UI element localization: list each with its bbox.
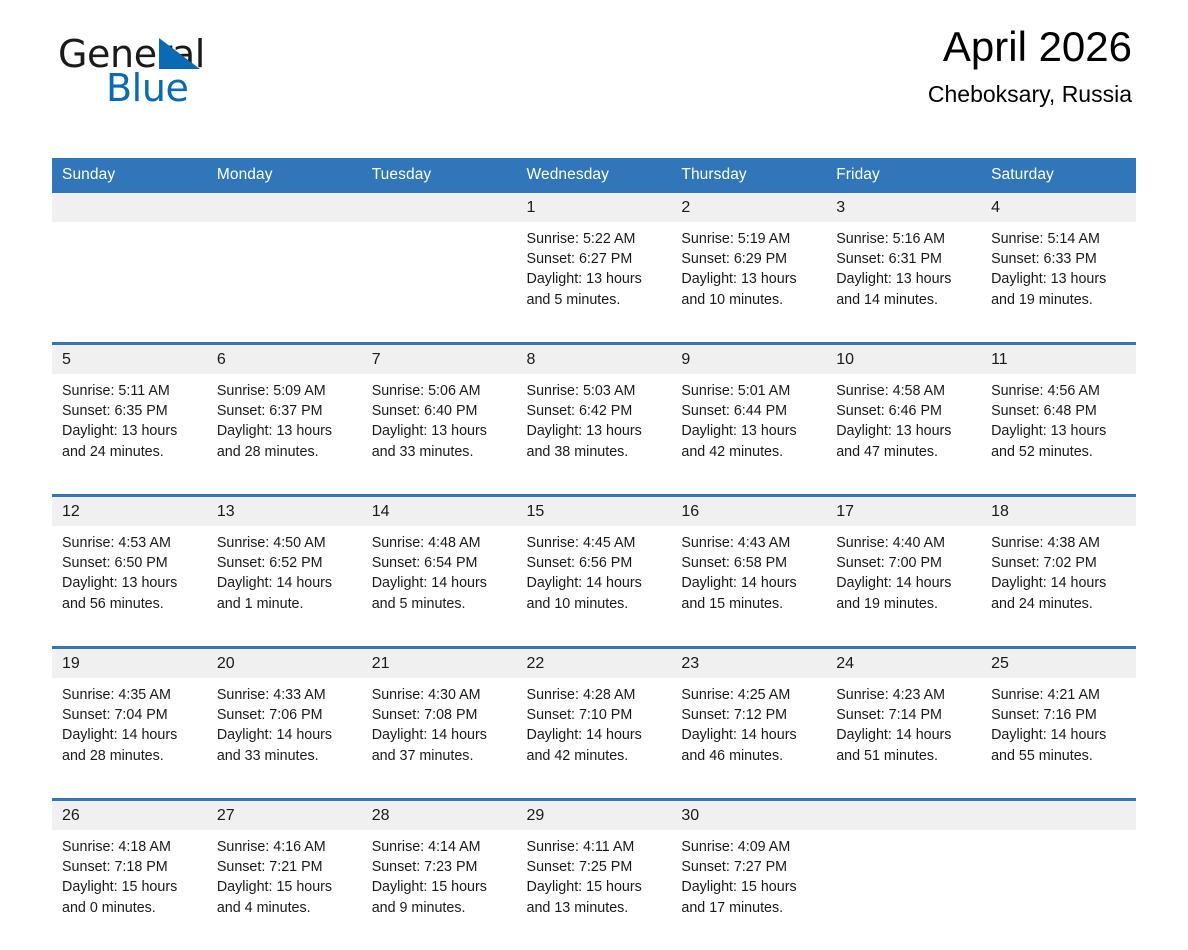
sunrise-text: Sunrise: 4:56 AM bbox=[991, 381, 1128, 401]
day-details: Sunrise: 4:33 AMSunset: 7:06 PMDaylight:… bbox=[217, 685, 354, 766]
daylight-text-line2: and 55 minutes. bbox=[991, 746, 1128, 766]
day-details: Sunrise: 5:09 AMSunset: 6:37 PMDaylight:… bbox=[217, 381, 354, 462]
day-details: Sunrise: 5:06 AMSunset: 6:40 PMDaylight:… bbox=[372, 381, 509, 462]
sunrise-text: Sunrise: 5:06 AM bbox=[372, 381, 509, 401]
day-number[interactable]: 3 bbox=[826, 193, 981, 222]
day-number[interactable]: 22 bbox=[517, 648, 672, 679]
day-number[interactable]: 6 bbox=[207, 344, 362, 375]
day-number[interactable]: 30 bbox=[671, 800, 826, 831]
masthead: General Blue April 2026 Cheboksary, Russ… bbox=[52, 0, 1136, 110]
sunset-text: Sunset: 6:40 PM bbox=[372, 401, 509, 421]
general-blue-logo[interactable]: General Blue bbox=[58, 34, 258, 112]
week-detail-row: Sunrise: 4:18 AMSunset: 7:18 PMDaylight:… bbox=[52, 830, 1136, 950]
daylight-text-line1: Daylight: 13 hours bbox=[836, 269, 973, 289]
daylight-text-line1: Daylight: 15 hours bbox=[527, 877, 664, 897]
day-details: Sunrise: 5:16 AMSunset: 6:31 PMDaylight:… bbox=[836, 229, 973, 310]
daylight-text-line2: and 0 minutes. bbox=[62, 898, 199, 918]
day-cell[interactable]: Sunrise: 5:11 AMSunset: 6:35 PMDaylight:… bbox=[52, 374, 207, 496]
week-daynumber-row: 567891011 bbox=[52, 344, 1136, 375]
day-details: Sunrise: 5:03 AMSunset: 6:42 PMDaylight:… bbox=[527, 381, 664, 462]
sunset-text: Sunset: 6:56 PM bbox=[527, 553, 664, 573]
calendar-grid: Sunday Monday Tuesday Wednesday Thursday… bbox=[52, 158, 1136, 950]
daylight-text-line1: Daylight: 13 hours bbox=[372, 421, 509, 441]
day-cell[interactable]: Sunrise: 5:14 AMSunset: 6:33 PMDaylight:… bbox=[981, 222, 1136, 344]
day-number[interactable]: 28 bbox=[362, 800, 517, 831]
daylight-text-line2: and 17 minutes. bbox=[681, 898, 818, 918]
logo-text-blue: Blue bbox=[106, 68, 189, 108]
day-cell-empty bbox=[362, 222, 517, 344]
sunset-text: Sunset: 6:50 PM bbox=[62, 553, 199, 573]
daylight-text-line2: and 28 minutes. bbox=[62, 746, 199, 766]
day-number[interactable]: 29 bbox=[517, 800, 672, 831]
daylight-text-line1: Daylight: 14 hours bbox=[836, 725, 973, 745]
day-cell[interactable]: Sunrise: 4:30 AMSunset: 7:08 PMDaylight:… bbox=[362, 678, 517, 800]
daylight-text-line1: Daylight: 14 hours bbox=[372, 725, 509, 745]
day-cell[interactable]: Sunrise: 5:16 AMSunset: 6:31 PMDaylight:… bbox=[826, 222, 981, 344]
sunset-text: Sunset: 7:14 PM bbox=[836, 705, 973, 725]
daylight-text-line2: and 10 minutes. bbox=[681, 290, 818, 310]
daylight-text-line1: Daylight: 15 hours bbox=[372, 877, 509, 897]
daylight-text-line1: Daylight: 14 hours bbox=[991, 725, 1128, 745]
sunset-text: Sunset: 6:48 PM bbox=[991, 401, 1128, 421]
day-details: Sunrise: 5:22 AMSunset: 6:27 PMDaylight:… bbox=[527, 229, 664, 310]
week-detail-row: Sunrise: 5:22 AMSunset: 6:27 PMDaylight:… bbox=[52, 222, 1136, 344]
sunrise-text: Sunrise: 4:40 AM bbox=[836, 533, 973, 553]
week-detail-row: Sunrise: 5:11 AMSunset: 6:35 PMDaylight:… bbox=[52, 374, 1136, 496]
sunset-text: Sunset: 6:44 PM bbox=[681, 401, 818, 421]
day-number[interactable]: 27 bbox=[207, 800, 362, 831]
sunset-text: Sunset: 7:18 PM bbox=[62, 857, 199, 877]
day-cell[interactable]: Sunrise: 4:40 AMSunset: 7:00 PMDaylight:… bbox=[826, 526, 981, 648]
day-details: Sunrise: 4:23 AMSunset: 7:14 PMDaylight:… bbox=[836, 685, 973, 766]
day-number[interactable]: 11 bbox=[981, 344, 1136, 375]
weekday-header-saturday: Saturday bbox=[981, 158, 1136, 193]
sunrise-text: Sunrise: 4:33 AM bbox=[217, 685, 354, 705]
sunrise-text: Sunrise: 4:53 AM bbox=[62, 533, 199, 553]
day-details: Sunrise: 5:01 AMSunset: 6:44 PMDaylight:… bbox=[681, 381, 818, 462]
day-details: Sunrise: 5:19 AMSunset: 6:29 PMDaylight:… bbox=[681, 229, 818, 310]
daylight-text-line2: and 19 minutes. bbox=[991, 290, 1128, 310]
daylight-text-line2: and 46 minutes. bbox=[681, 746, 818, 766]
daylight-text-line2: and 33 minutes. bbox=[372, 442, 509, 462]
day-number[interactable]: 21 bbox=[362, 648, 517, 679]
sunset-text: Sunset: 6:31 PM bbox=[836, 249, 973, 269]
day-cell[interactable]: Sunrise: 4:14 AMSunset: 7:23 PMDaylight:… bbox=[362, 830, 517, 950]
daylight-text-line2: and 38 minutes. bbox=[527, 442, 664, 462]
sunrise-text: Sunrise: 4:18 AM bbox=[62, 837, 199, 857]
day-details: Sunrise: 5:11 AMSunset: 6:35 PMDaylight:… bbox=[62, 381, 199, 462]
day-cell-empty bbox=[981, 830, 1136, 950]
weekday-header-friday: Friday bbox=[826, 158, 981, 193]
day-cell[interactable]: Sunrise: 4:25 AMSunset: 7:12 PMDaylight:… bbox=[671, 678, 826, 800]
day-details: Sunrise: 4:50 AMSunset: 6:52 PMDaylight:… bbox=[217, 533, 354, 614]
day-details: Sunrise: 4:35 AMSunset: 7:04 PMDaylight:… bbox=[62, 685, 199, 766]
day-details: Sunrise: 4:09 AMSunset: 7:27 PMDaylight:… bbox=[681, 837, 818, 918]
sunset-text: Sunset: 7:00 PM bbox=[836, 553, 973, 573]
sunset-text: Sunset: 7:06 PM bbox=[217, 705, 354, 725]
sunset-text: Sunset: 7:16 PM bbox=[991, 705, 1128, 725]
daylight-text-line2: and 24 minutes. bbox=[62, 442, 199, 462]
day-number[interactable]: 24 bbox=[826, 648, 981, 679]
day-cell[interactable]: Sunrise: 4:38 AMSunset: 7:02 PMDaylight:… bbox=[981, 526, 1136, 648]
day-number[interactable]: 26 bbox=[52, 800, 207, 831]
sunset-text: Sunset: 6:29 PM bbox=[681, 249, 818, 269]
daylight-text-line1: Daylight: 13 hours bbox=[527, 421, 664, 441]
sunset-text: Sunset: 6:58 PM bbox=[681, 553, 818, 573]
day-number[interactable]: 16 bbox=[671, 496, 826, 527]
day-details: Sunrise: 4:30 AMSunset: 7:08 PMDaylight:… bbox=[372, 685, 509, 766]
sunset-text: Sunset: 7:10 PM bbox=[527, 705, 664, 725]
day-details: Sunrise: 4:18 AMSunset: 7:18 PMDaylight:… bbox=[62, 837, 199, 918]
sunrise-text: Sunrise: 4:25 AM bbox=[681, 685, 818, 705]
location-subtitle: Cheboksary, Russia bbox=[928, 80, 1132, 108]
day-details: Sunrise: 5:14 AMSunset: 6:33 PMDaylight:… bbox=[991, 229, 1128, 310]
day-details: Sunrise: 4:53 AMSunset: 6:50 PMDaylight:… bbox=[62, 533, 199, 614]
day-number[interactable]: 25 bbox=[981, 648, 1136, 679]
daylight-text-line1: Daylight: 13 hours bbox=[681, 269, 818, 289]
calendar-body: 1234Sunrise: 5:22 AMSunset: 6:27 PMDayli… bbox=[52, 193, 1136, 950]
weekday-header-sunday: Sunday bbox=[52, 158, 207, 193]
day-number-empty bbox=[52, 193, 207, 222]
day-number[interactable]: 7 bbox=[362, 344, 517, 375]
sunrise-text: Sunrise: 5:01 AM bbox=[681, 381, 818, 401]
sunset-text: Sunset: 7:02 PM bbox=[991, 553, 1128, 573]
sunset-text: Sunset: 6:46 PM bbox=[836, 401, 973, 421]
day-number[interactable]: 1 bbox=[517, 193, 672, 222]
weekday-header-monday: Monday bbox=[207, 158, 362, 193]
sunset-text: Sunset: 7:23 PM bbox=[372, 857, 509, 877]
sunrise-text: Sunrise: 5:03 AM bbox=[527, 381, 664, 401]
day-cell[interactable]: Sunrise: 5:03 AMSunset: 6:42 PMDaylight:… bbox=[517, 374, 672, 496]
daylight-text-line1: Daylight: 14 hours bbox=[991, 573, 1128, 593]
daylight-text-line1: Daylight: 15 hours bbox=[62, 877, 199, 897]
sunrise-text: Sunrise: 4:16 AM bbox=[217, 837, 354, 857]
daylight-text-line1: Daylight: 13 hours bbox=[527, 269, 664, 289]
sunset-text: Sunset: 7:27 PM bbox=[681, 857, 818, 877]
daylight-text-line2: and 9 minutes. bbox=[372, 898, 509, 918]
daylight-text-line1: Daylight: 13 hours bbox=[991, 421, 1128, 441]
sunrise-text: Sunrise: 5:16 AM bbox=[836, 229, 973, 249]
sunrise-text: Sunrise: 4:35 AM bbox=[62, 685, 199, 705]
day-cell[interactable]: Sunrise: 4:28 AMSunset: 7:10 PMDaylight:… bbox=[517, 678, 672, 800]
sunrise-text: Sunrise: 4:58 AM bbox=[836, 381, 973, 401]
daylight-text-line2: and 4 minutes. bbox=[217, 898, 354, 918]
day-cell[interactable]: Sunrise: 4:35 AMSunset: 7:04 PMDaylight:… bbox=[52, 678, 207, 800]
day-cell[interactable]: Sunrise: 5:09 AMSunset: 6:37 PMDaylight:… bbox=[207, 374, 362, 496]
day-details: Sunrise: 4:38 AMSunset: 7:02 PMDaylight:… bbox=[991, 533, 1128, 614]
sunset-text: Sunset: 6:52 PM bbox=[217, 553, 354, 573]
day-cell[interactable]: Sunrise: 5:06 AMSunset: 6:40 PMDaylight:… bbox=[362, 374, 517, 496]
calendar-page: General Blue April 2026 Cheboksary, Russ… bbox=[0, 0, 1188, 918]
day-number-empty bbox=[981, 800, 1136, 831]
day-details: Sunrise: 4:11 AMSunset: 7:25 PMDaylight:… bbox=[527, 837, 664, 918]
sunrise-text: Sunrise: 4:11 AM bbox=[527, 837, 664, 857]
day-details: Sunrise: 4:45 AMSunset: 6:56 PMDaylight:… bbox=[527, 533, 664, 614]
daylight-text-line2: and 5 minutes. bbox=[527, 290, 664, 310]
day-number[interactable]: 5 bbox=[52, 344, 207, 375]
daylight-text-line2: and 14 minutes. bbox=[836, 290, 973, 310]
daylight-text-line2: and 51 minutes. bbox=[836, 746, 973, 766]
day-number[interactable]: 18 bbox=[981, 496, 1136, 527]
day-cell-empty bbox=[52, 222, 207, 344]
sunrise-text: Sunrise: 5:14 AM bbox=[991, 229, 1128, 249]
sunset-text: Sunset: 6:35 PM bbox=[62, 401, 199, 421]
sunrise-text: Sunrise: 4:30 AM bbox=[372, 685, 509, 705]
day-number[interactable]: 13 bbox=[207, 496, 362, 527]
day-cell[interactable]: Sunrise: 4:45 AMSunset: 6:56 PMDaylight:… bbox=[517, 526, 672, 648]
day-number-empty bbox=[362, 193, 517, 222]
daylight-text-line1: Daylight: 14 hours bbox=[62, 725, 199, 745]
sunset-text: Sunset: 6:42 PM bbox=[527, 401, 664, 421]
daylight-text-line2: and 13 minutes. bbox=[527, 898, 664, 918]
day-details: Sunrise: 4:48 AMSunset: 6:54 PMDaylight:… bbox=[372, 533, 509, 614]
sunrise-text: Sunrise: 4:21 AM bbox=[991, 685, 1128, 705]
sunrise-text: Sunrise: 4:48 AM bbox=[372, 533, 509, 553]
daylight-text-line1: Daylight: 14 hours bbox=[681, 725, 818, 745]
calendar-table: Sunday Monday Tuesday Wednesday Thursday… bbox=[52, 158, 1136, 950]
daylight-text-line2: and 56 minutes. bbox=[62, 594, 199, 614]
day-cell[interactable]: Sunrise: 4:18 AMSunset: 7:18 PMDaylight:… bbox=[52, 830, 207, 950]
day-details: Sunrise: 4:43 AMSunset: 6:58 PMDaylight:… bbox=[681, 533, 818, 614]
day-cell[interactable]: Sunrise: 4:53 AMSunset: 6:50 PMDaylight:… bbox=[52, 526, 207, 648]
day-details: Sunrise: 4:21 AMSunset: 7:16 PMDaylight:… bbox=[991, 685, 1128, 766]
week-detail-row: Sunrise: 4:35 AMSunset: 7:04 PMDaylight:… bbox=[52, 678, 1136, 800]
day-cell-empty bbox=[826, 830, 981, 950]
sunset-text: Sunset: 7:12 PM bbox=[681, 705, 818, 725]
day-details: Sunrise: 4:40 AMSunset: 7:00 PMDaylight:… bbox=[836, 533, 973, 614]
sunset-text: Sunset: 7:21 PM bbox=[217, 857, 354, 877]
sunrise-text: Sunrise: 4:43 AM bbox=[681, 533, 818, 553]
day-number-empty bbox=[207, 193, 362, 222]
day-cell[interactable]: Sunrise: 4:48 AMSunset: 6:54 PMDaylight:… bbox=[362, 526, 517, 648]
day-cell[interactable]: Sunrise: 4:58 AMSunset: 6:46 PMDaylight:… bbox=[826, 374, 981, 496]
title-block: April 2026 Cheboksary, Russia bbox=[928, 22, 1132, 108]
day-details: Sunrise: 4:58 AMSunset: 6:46 PMDaylight:… bbox=[836, 381, 973, 462]
day-cell[interactable]: Sunrise: 4:33 AMSunset: 7:06 PMDaylight:… bbox=[207, 678, 362, 800]
day-cell[interactable]: Sunrise: 4:56 AMSunset: 6:48 PMDaylight:… bbox=[981, 374, 1136, 496]
day-cell[interactable]: Sunrise: 4:43 AMSunset: 6:58 PMDaylight:… bbox=[671, 526, 826, 648]
daylight-text-line2: and 28 minutes. bbox=[217, 442, 354, 462]
daylight-text-line1: Daylight: 13 hours bbox=[62, 421, 199, 441]
daylight-text-line2: and 24 minutes. bbox=[991, 594, 1128, 614]
daylight-text-line2: and 33 minutes. bbox=[217, 746, 354, 766]
daylight-text-line1: Daylight: 13 hours bbox=[62, 573, 199, 593]
daylight-text-line2: and 52 minutes. bbox=[991, 442, 1128, 462]
day-cell[interactable]: Sunrise: 5:01 AMSunset: 6:44 PMDaylight:… bbox=[671, 374, 826, 496]
day-cell[interactable]: Sunrise: 5:22 AMSunset: 6:27 PMDaylight:… bbox=[517, 222, 672, 344]
day-cell[interactable]: Sunrise: 5:19 AMSunset: 6:29 PMDaylight:… bbox=[671, 222, 826, 344]
weekday-header-wednesday: Wednesday bbox=[517, 158, 672, 193]
daylight-text-line1: Daylight: 14 hours bbox=[217, 573, 354, 593]
day-number[interactable]: 9 bbox=[671, 344, 826, 375]
day-number[interactable]: 2 bbox=[671, 193, 826, 222]
week-daynumber-row: 2627282930 bbox=[52, 800, 1136, 831]
sunrise-text: Sunrise: 5:19 AM bbox=[681, 229, 818, 249]
day-details: Sunrise: 4:28 AMSunset: 7:10 PMDaylight:… bbox=[527, 685, 664, 766]
sunrise-text: Sunrise: 5:22 AM bbox=[527, 229, 664, 249]
day-number[interactable]: 14 bbox=[362, 496, 517, 527]
week-daynumber-row: 12131415161718 bbox=[52, 496, 1136, 527]
sunrise-text: Sunrise: 4:28 AM bbox=[527, 685, 664, 705]
daylight-text-line2: and 47 minutes. bbox=[836, 442, 973, 462]
weekday-header-tuesday: Tuesday bbox=[362, 158, 517, 193]
day-cell[interactable]: Sunrise: 4:16 AMSunset: 7:21 PMDaylight:… bbox=[207, 830, 362, 950]
daylight-text-line1: Daylight: 13 hours bbox=[681, 421, 818, 441]
daylight-text-line2: and 10 minutes. bbox=[527, 594, 664, 614]
daylight-text-line1: Daylight: 15 hours bbox=[681, 877, 818, 897]
week-detail-row: Sunrise: 4:53 AMSunset: 6:50 PMDaylight:… bbox=[52, 526, 1136, 648]
day-number[interactable]: 8 bbox=[517, 344, 672, 375]
day-cell[interactable]: Sunrise: 4:09 AMSunset: 7:27 PMDaylight:… bbox=[671, 830, 826, 950]
day-details: Sunrise: 4:14 AMSunset: 7:23 PMDaylight:… bbox=[372, 837, 509, 918]
day-number[interactable]: 10 bbox=[826, 344, 981, 375]
day-cell[interactable]: Sunrise: 4:23 AMSunset: 7:14 PMDaylight:… bbox=[826, 678, 981, 800]
daylight-text-line1: Daylight: 14 hours bbox=[527, 725, 664, 745]
daylight-text-line2: and 42 minutes. bbox=[681, 442, 818, 462]
day-number[interactable]: 20 bbox=[207, 648, 362, 679]
daylight-text-line1: Daylight: 14 hours bbox=[217, 725, 354, 745]
week-daynumber-row: 1234 bbox=[52, 193, 1136, 222]
sunrise-text: Sunrise: 5:09 AM bbox=[217, 381, 354, 401]
week-daynumber-row: 19202122232425 bbox=[52, 648, 1136, 679]
daylight-text-line1: Daylight: 13 hours bbox=[836, 421, 973, 441]
daylight-text-line1: Daylight: 15 hours bbox=[217, 877, 354, 897]
day-details: Sunrise: 4:16 AMSunset: 7:21 PMDaylight:… bbox=[217, 837, 354, 918]
day-number[interactable]: 15 bbox=[517, 496, 672, 527]
day-details: Sunrise: 4:25 AMSunset: 7:12 PMDaylight:… bbox=[681, 685, 818, 766]
sunset-text: Sunset: 6:37 PM bbox=[217, 401, 354, 421]
daylight-text-line2: and 5 minutes. bbox=[372, 594, 509, 614]
day-details: Sunrise: 4:56 AMSunset: 6:48 PMDaylight:… bbox=[991, 381, 1128, 462]
daylight-text-line1: Daylight: 14 hours bbox=[372, 573, 509, 593]
day-cell-empty bbox=[207, 222, 362, 344]
day-number-empty bbox=[826, 800, 981, 831]
daylight-text-line1: Daylight: 13 hours bbox=[991, 269, 1128, 289]
daylight-text-line2: and 19 minutes. bbox=[836, 594, 973, 614]
day-number[interactable]: 17 bbox=[826, 496, 981, 527]
sunset-text: Sunset: 7:25 PM bbox=[527, 857, 664, 877]
daylight-text-line2: and 42 minutes. bbox=[527, 746, 664, 766]
sunrise-text: Sunrise: 4:50 AM bbox=[217, 533, 354, 553]
sunset-text: Sunset: 7:04 PM bbox=[62, 705, 199, 725]
day-cell[interactable]: Sunrise: 4:21 AMSunset: 7:16 PMDaylight:… bbox=[981, 678, 1136, 800]
sunrise-text: Sunrise: 4:09 AM bbox=[681, 837, 818, 857]
sunrise-text: Sunrise: 4:14 AM bbox=[372, 837, 509, 857]
day-number[interactable]: 19 bbox=[52, 648, 207, 679]
day-number[interactable]: 4 bbox=[981, 193, 1136, 222]
page-title: April 2026 bbox=[928, 22, 1132, 72]
sunrise-text: Sunrise: 4:45 AM bbox=[527, 533, 664, 553]
daylight-text-line2: and 37 minutes. bbox=[372, 746, 509, 766]
day-number[interactable]: 12 bbox=[52, 496, 207, 527]
sunrise-text: Sunrise: 4:23 AM bbox=[836, 685, 973, 705]
daylight-text-line1: Daylight: 14 hours bbox=[681, 573, 818, 593]
daylight-text-line2: and 1 minute. bbox=[217, 594, 354, 614]
daylight-text-line1: Daylight: 14 hours bbox=[527, 573, 664, 593]
daylight-text-line2: and 15 minutes. bbox=[681, 594, 818, 614]
daylight-text-line1: Daylight: 14 hours bbox=[836, 573, 973, 593]
sunset-text: Sunset: 6:27 PM bbox=[527, 249, 664, 269]
sunset-text: Sunset: 7:08 PM bbox=[372, 705, 509, 725]
sunset-text: Sunset: 6:54 PM bbox=[372, 553, 509, 573]
sunrise-text: Sunrise: 5:11 AM bbox=[62, 381, 199, 401]
calendar-header-row: Sunday Monday Tuesday Wednesday Thursday… bbox=[52, 158, 1136, 193]
weekday-header-thursday: Thursday bbox=[671, 158, 826, 193]
day-cell[interactable]: Sunrise: 4:11 AMSunset: 7:25 PMDaylight:… bbox=[517, 830, 672, 950]
day-number[interactable]: 23 bbox=[671, 648, 826, 679]
day-cell[interactable]: Sunrise: 4:50 AMSunset: 6:52 PMDaylight:… bbox=[207, 526, 362, 648]
sunset-text: Sunset: 6:33 PM bbox=[991, 249, 1128, 269]
sunrise-text: Sunrise: 4:38 AM bbox=[991, 533, 1128, 553]
daylight-text-line1: Daylight: 13 hours bbox=[217, 421, 354, 441]
